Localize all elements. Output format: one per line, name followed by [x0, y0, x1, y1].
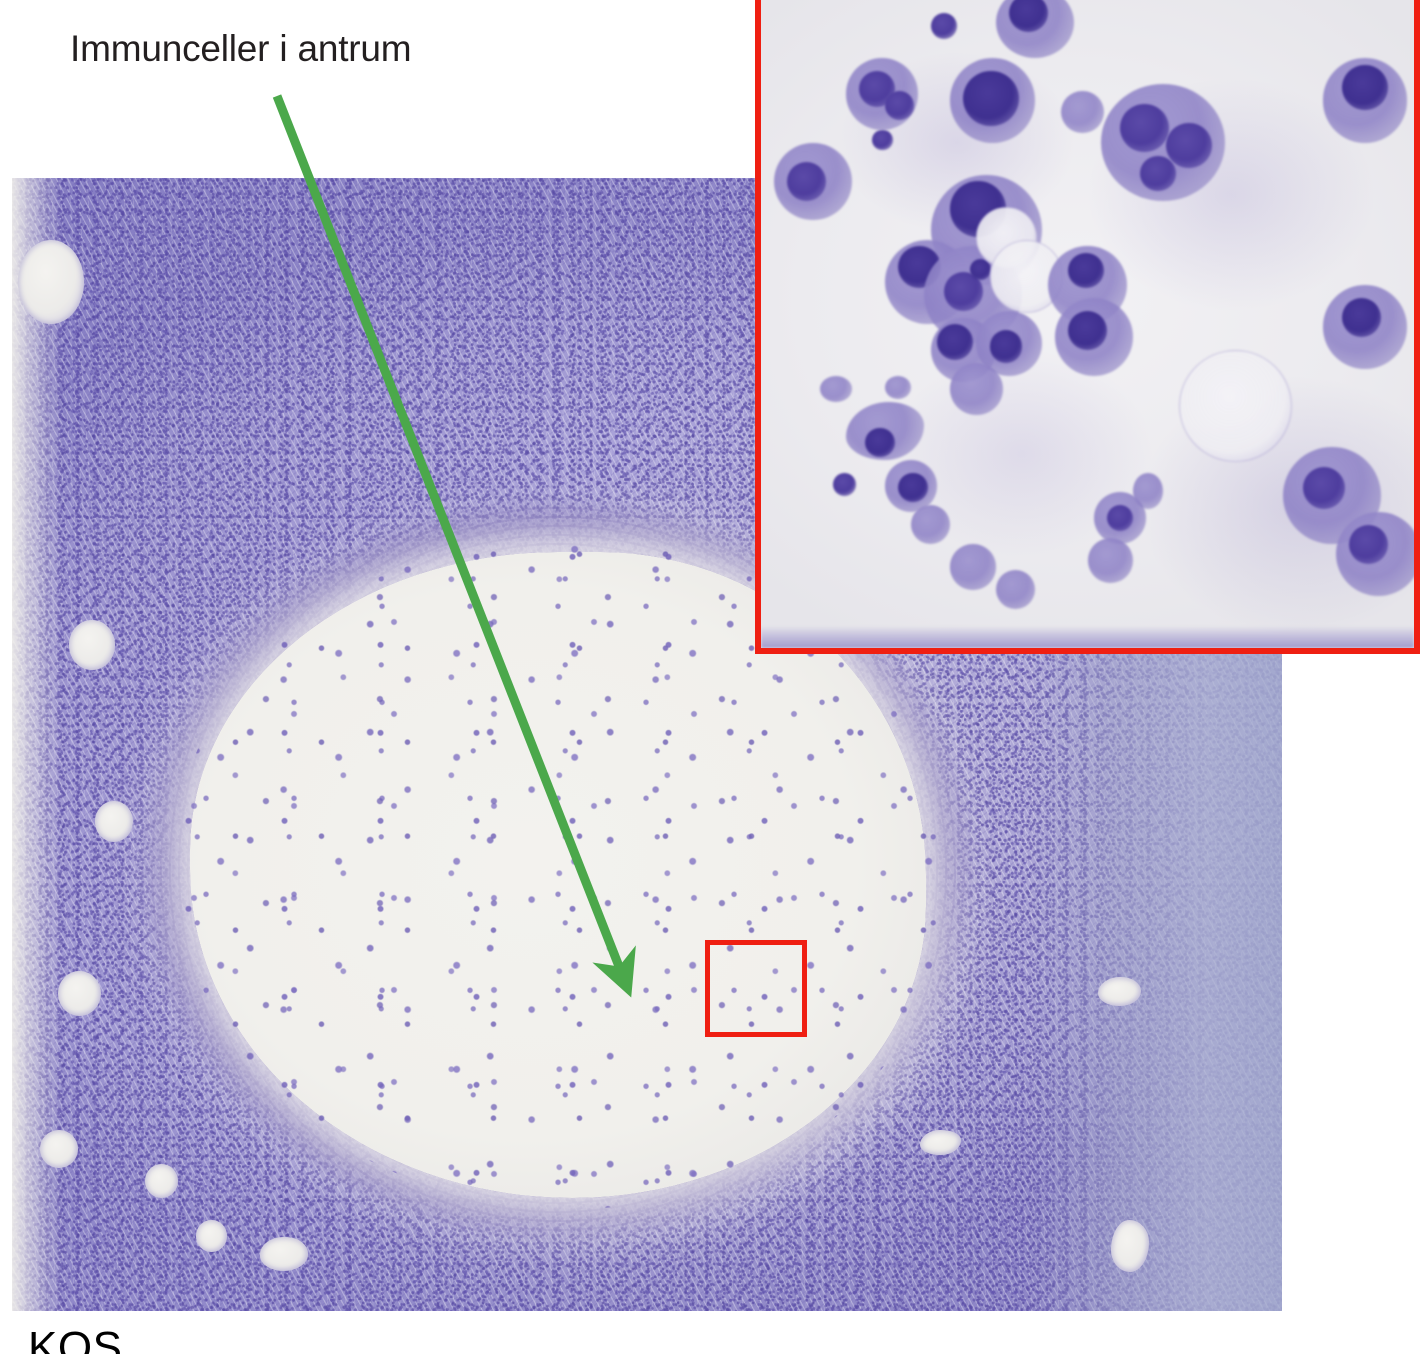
stromal-follicle — [69, 620, 115, 670]
immune-cell-cytoplasm — [1061, 91, 1103, 133]
immune-cell-nucleus — [1303, 467, 1345, 509]
immune-cell-cytoplasm — [885, 376, 911, 399]
immune-cell-nucleus — [1120, 104, 1169, 153]
immune-cell-nucleus — [787, 162, 826, 201]
immune-cell-cytoplasm — [1133, 473, 1162, 509]
immune-cell-nucleus — [1068, 253, 1104, 289]
immune-cell-nucleus — [1068, 311, 1107, 350]
stromal-follicle — [196, 1220, 226, 1252]
immune-cell-nucleus — [1140, 156, 1176, 192]
immune-cell-nucleus — [990, 330, 1023, 362]
immune-cell-nucleus — [1342, 298, 1381, 337]
immune-cell-nucleus — [1349, 525, 1388, 564]
region-of-interest-rectangle — [705, 940, 807, 1037]
immune-cell-cytoplasm — [820, 376, 853, 402]
immune-cell-nucleus — [833, 473, 856, 496]
immune-cell-nucleus — [885, 91, 914, 120]
footer-text: KOS — [28, 1322, 122, 1354]
slide-canvas: Immunceller i antrum KOS — [0, 0, 1424, 1354]
immune-cell-nucleus — [898, 473, 927, 502]
stromal-follicle — [40, 1130, 78, 1169]
stromal-follicle — [920, 1130, 961, 1155]
immune-cell-nucleus — [1342, 65, 1388, 110]
immune-cell-cytoplasm — [1088, 538, 1134, 583]
stromal-follicle — [58, 971, 101, 1016]
immune-cell-nucleus — [872, 130, 893, 151]
annotation-label: Immunceller i antrum — [70, 27, 411, 71]
magnified-inset-panel — [755, 0, 1420, 654]
immune-cell-nucleus — [931, 13, 957, 39]
immune-cell-nucleus — [963, 71, 1019, 126]
stromal-follicle — [260, 1237, 308, 1271]
vacuolated-cell — [1179, 350, 1292, 462]
stromal-follicle — [95, 801, 133, 842]
stromal-follicle — [145, 1164, 178, 1198]
immune-cell-nucleus — [1166, 123, 1212, 168]
immune-cell-cytoplasm — [950, 544, 996, 589]
immune-cell-cytoplasm — [950, 363, 1002, 415]
immune-cell-nucleus — [937, 324, 973, 360]
immune-cell-nucleus — [865, 428, 894, 457]
inset-lower-tissue-strip — [761, 626, 1414, 648]
